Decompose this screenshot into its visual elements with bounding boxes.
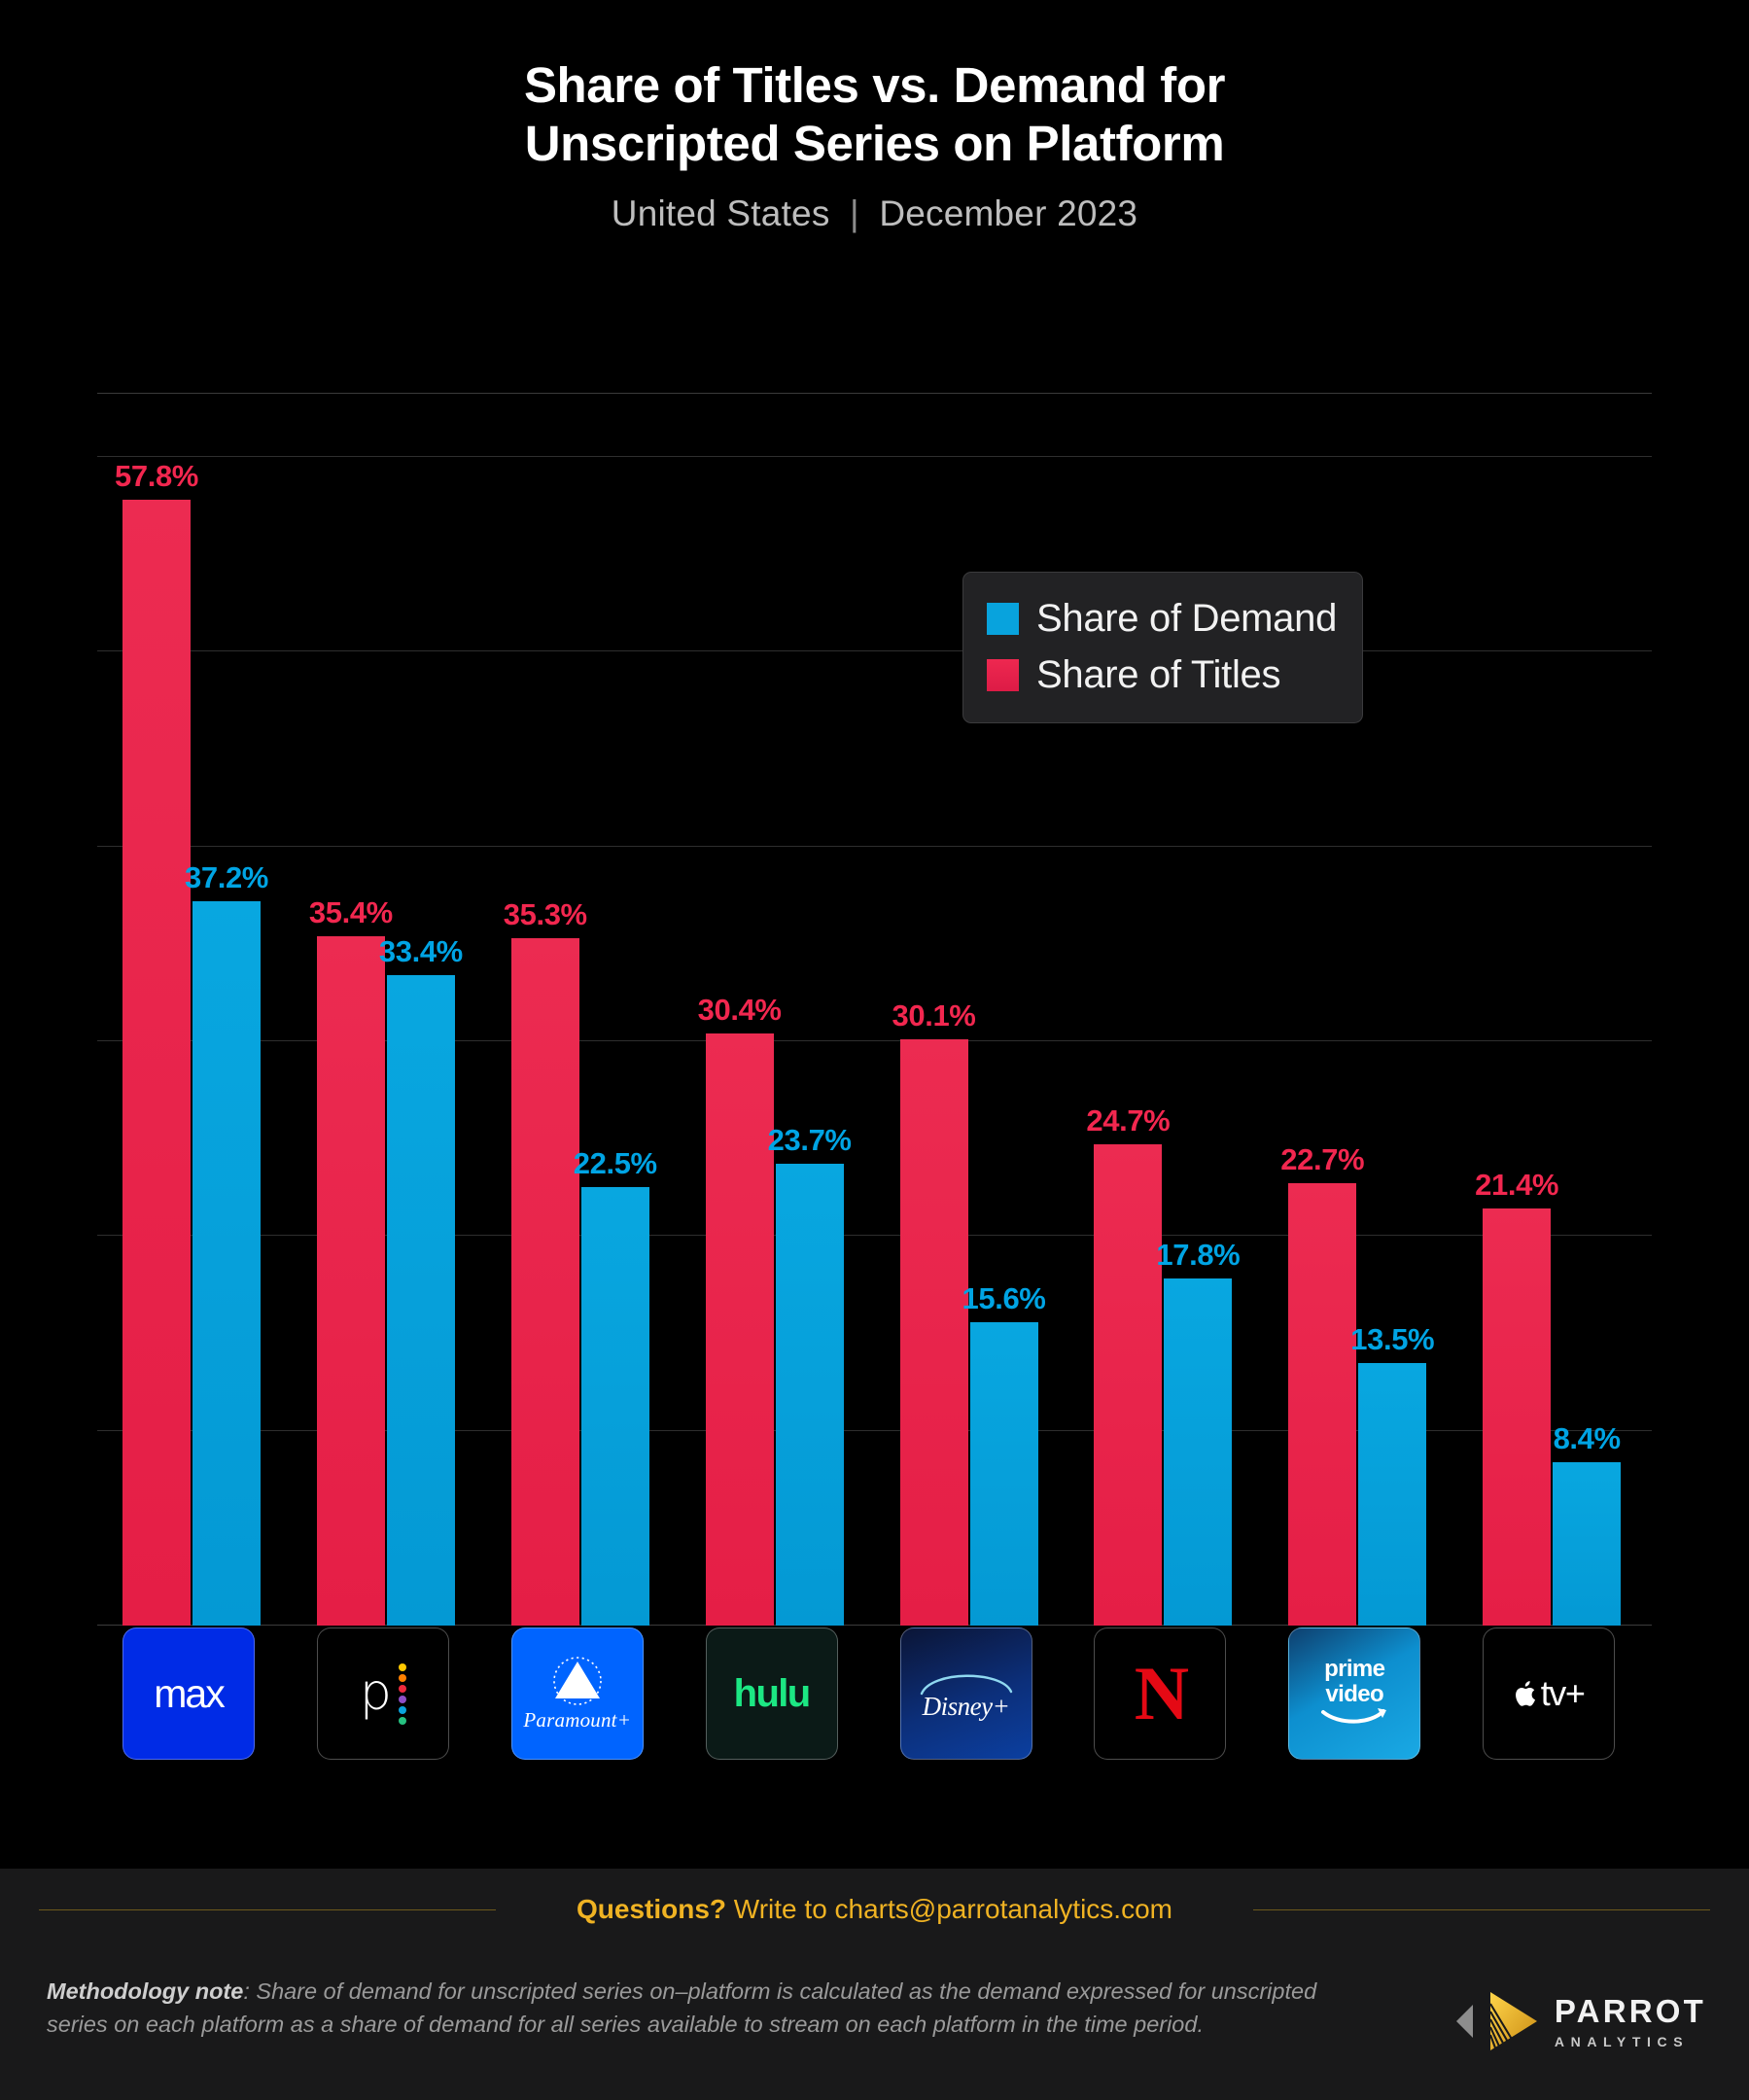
bar-group: 30.4%23.7% — [681, 418, 875, 1626]
bar-groups: 57.8%37.2%35.4%33.4%35.3%22.5%30.4%23.7%… — [97, 418, 1652, 1626]
bar-demand[interactable]: 37.2% — [192, 418, 261, 1626]
legend-label: Share of Demand — [1036, 597, 1337, 641]
parrot-analytics-logo: PARROT ANALYTICS — [1456, 1991, 1706, 2051]
band-rule-left — [39, 1909, 496, 1910]
paramount-mark: Paramount+ — [523, 1656, 631, 1732]
questions-label: Questions? — [577, 1894, 726, 1924]
bar-value-label: 30.4% — [698, 993, 782, 1028]
logo-slot-disney: Disney+ — [875, 1626, 1069, 1762]
paramount-mountain-icon — [542, 1656, 613, 1706]
bar-value-label: 37.2% — [185, 860, 268, 895]
methodology-label: Methodology note — [47, 1978, 243, 2004]
netflix-logo-tile[interactable]: N — [1094, 1627, 1226, 1760]
prime-video-wordmark: primevideo — [1324, 1657, 1384, 1707]
appletv-logo-tile[interactable]: tv+ — [1483, 1627, 1615, 1760]
bar-demand[interactable]: 22.5% — [581, 418, 649, 1626]
brand-name: PARROT — [1555, 1995, 1706, 2027]
platform-logo-row: maxpParamount+huluDisney+Nprimevideotv+ — [97, 1626, 1652, 1762]
bar-rect[interactable]: 37.2% — [192, 901, 261, 1626]
bar-rect[interactable]: 23.7% — [776, 1164, 844, 1626]
legend-label: Share of Titles — [1036, 653, 1280, 697]
bar-value-label: 8.4% — [1554, 1421, 1621, 1456]
prime-logo-tile[interactable]: primevideo — [1288, 1627, 1420, 1760]
peacock-dot — [399, 1717, 406, 1725]
questions-email[interactable]: Write to charts@parrotanalytics.com — [726, 1894, 1172, 1924]
legend-item[interactable]: Share of Demand — [987, 590, 1337, 647]
subtitle-period: December 2023 — [879, 193, 1137, 233]
bar-group: 57.8%37.2% — [97, 418, 292, 1626]
logo-slot-netflix: N — [1068, 1626, 1263, 1762]
subtitle-region: United States — [612, 193, 830, 233]
bar-titles[interactable]: 57.8% — [122, 418, 191, 1626]
legend-swatch — [987, 659, 1019, 691]
peacock-dots-icon — [399, 1663, 406, 1725]
title-line-1: Share of Titles vs. Demand for — [0, 56, 1749, 115]
bar-rect[interactable]: 8.4% — [1553, 1462, 1621, 1626]
paramount-wordmark: Paramount+ — [523, 1708, 631, 1732]
parrot-wordmark: PARROT ANALYTICS — [1555, 1995, 1706, 2048]
chart-page: Share of Titles vs. Demand for Unscripte… — [0, 0, 1749, 2100]
bar-rect[interactable]: 24.7% — [1094, 1144, 1162, 1626]
bar-value-label: 24.7% — [1086, 1103, 1170, 1138]
footer-note-panel: Methodology note: Share of demand for un… — [0, 1950, 1749, 2100]
bar-rect[interactable]: 30.4% — [706, 1033, 774, 1626]
apple-logo-icon — [1514, 1679, 1539, 1709]
netflix-n-icon: N — [1135, 1664, 1186, 1724]
peacock-dot — [399, 1663, 406, 1671]
bar-rect[interactable]: 13.5% — [1358, 1363, 1426, 1626]
bar-value-label: 35.4% — [309, 895, 393, 930]
hulu-wordmark: hulu — [734, 1672, 810, 1716]
bar-rect[interactable]: 21.4% — [1483, 1208, 1551, 1626]
bar-rect[interactable]: 17.8% — [1164, 1278, 1232, 1626]
bar-rect[interactable]: 22.7% — [1288, 1183, 1356, 1626]
disney-wordmark: Disney+ — [923, 1692, 1010, 1722]
apple-tv-wordmark: tv+ — [1514, 1673, 1585, 1714]
bar-demand[interactable]: 33.4% — [387, 418, 455, 1626]
bar-value-label: 17.8% — [1156, 1238, 1240, 1273]
peacock-letter: p — [360, 1673, 392, 1714]
paramount-logo-tile[interactable]: Paramount+ — [511, 1627, 644, 1760]
apple-tv-plus-text: tv+ — [1541, 1673, 1585, 1714]
subtitle-separator: | — [840, 193, 869, 233]
page-title: Share of Titles vs. Demand for Unscripte… — [0, 56, 1749, 172]
questions-text: Questions? Write to charts@parrotanalyti… — [559, 1894, 1190, 1925]
plot-area: 57.8%37.2%35.4%33.4%35.3%22.5%30.4%23.7%… — [97, 418, 1652, 1626]
prime-video-mark: primevideo — [1319, 1657, 1389, 1732]
bar-value-label: 22.7% — [1280, 1142, 1364, 1177]
bar-value-label: 21.4% — [1475, 1168, 1558, 1203]
bar-titles[interactable]: 35.4% — [317, 418, 385, 1626]
peacock-dot — [399, 1706, 406, 1714]
amazon-smile-icon — [1319, 1706, 1389, 1726]
bar-rect[interactable]: 15.6% — [970, 1322, 1038, 1627]
legend-swatch — [987, 603, 1019, 635]
logo-slot-prime: primevideo — [1263, 1626, 1457, 1762]
bar-demand[interactable]: 23.7% — [776, 418, 844, 1626]
bar-value-label: 22.5% — [574, 1146, 657, 1181]
max-wordmark: max — [154, 1671, 223, 1717]
bar-rect[interactable]: 57.8% — [122, 500, 191, 1626]
logo-slot-appletv: tv+ — [1457, 1626, 1652, 1762]
bar-demand[interactable]: 8.4% — [1553, 418, 1621, 1626]
hulu-logo-tile[interactable]: hulu — [706, 1627, 838, 1760]
chart-header: Share of Titles vs. Demand for Unscripte… — [0, 0, 1749, 234]
bar-value-label: 15.6% — [962, 1281, 1046, 1316]
bar-titles[interactable]: 21.4% — [1483, 418, 1551, 1626]
bar-value-label: 35.3% — [504, 897, 587, 932]
bar-value-label: 13.5% — [1350, 1322, 1434, 1357]
bar-rect[interactable]: 35.4% — [317, 936, 385, 1626]
peacock-logo-tile[interactable]: p — [317, 1627, 449, 1760]
bar-value-label: 23.7% — [768, 1123, 852, 1158]
peacock-mark: p — [360, 1663, 406, 1725]
chart-subtitle: United States | December 2023 — [0, 193, 1749, 234]
chart-legend: Share of DemandShare of Titles — [962, 572, 1363, 723]
logo-slot-hulu: hulu — [681, 1626, 875, 1762]
methodology-note: Methodology note: Share of demand for un… — [47, 1976, 1379, 2041]
bar-group: 35.3%22.5% — [486, 418, 681, 1626]
peacock-dot — [399, 1674, 406, 1682]
bar-titles[interactable]: 35.3% — [511, 418, 579, 1626]
bar-rect[interactable]: 35.3% — [511, 938, 579, 1626]
logo-slot-paramount: Paramount+ — [486, 1626, 681, 1762]
caret-left-icon — [1456, 2005, 1473, 2038]
disney-mark: Disney+ — [916, 1666, 1017, 1722]
brand-tagline: ANALYTICS — [1555, 2035, 1706, 2048]
bar-rect[interactable]: 33.4% — [387, 975, 455, 1626]
bar-demand[interactable]: 13.5% — [1358, 418, 1426, 1626]
parrot-triangle-icon — [1487, 1991, 1541, 2051]
bar-titles[interactable]: 30.4% — [706, 418, 774, 1626]
band-rule-right — [1253, 1909, 1710, 1910]
bar-rect[interactable]: 22.5% — [581, 1187, 649, 1626]
bar-value-label: 30.1% — [892, 998, 976, 1033]
title-line-2: Unscripted Series on Platform — [0, 115, 1749, 173]
max-logo-tile[interactable]: max — [122, 1627, 255, 1760]
bar-rect[interactable]: 30.1% — [900, 1039, 968, 1626]
amazon-smile — [1319, 1706, 1389, 1731]
bar-titles[interactable]: 30.1% — [900, 418, 968, 1626]
peacock-dot — [399, 1685, 406, 1693]
bar-group: 21.4%8.4% — [1457, 418, 1652, 1626]
bar-value-label: 57.8% — [115, 459, 198, 494]
legend-item[interactable]: Share of Titles — [987, 647, 1337, 703]
header-divider — [97, 393, 1652, 394]
disney-logo-tile[interactable]: Disney+ — [900, 1627, 1032, 1760]
peacock-dot — [399, 1696, 406, 1703]
questions-band: Questions? Write to charts@parrotanalyti… — [0, 1869, 1749, 1950]
logo-slot-peacock: p — [292, 1626, 486, 1762]
bar-value-label: 33.4% — [379, 934, 463, 969]
logo-slot-max: max — [97, 1626, 292, 1762]
bar-group: 35.4%33.4% — [292, 418, 486, 1626]
